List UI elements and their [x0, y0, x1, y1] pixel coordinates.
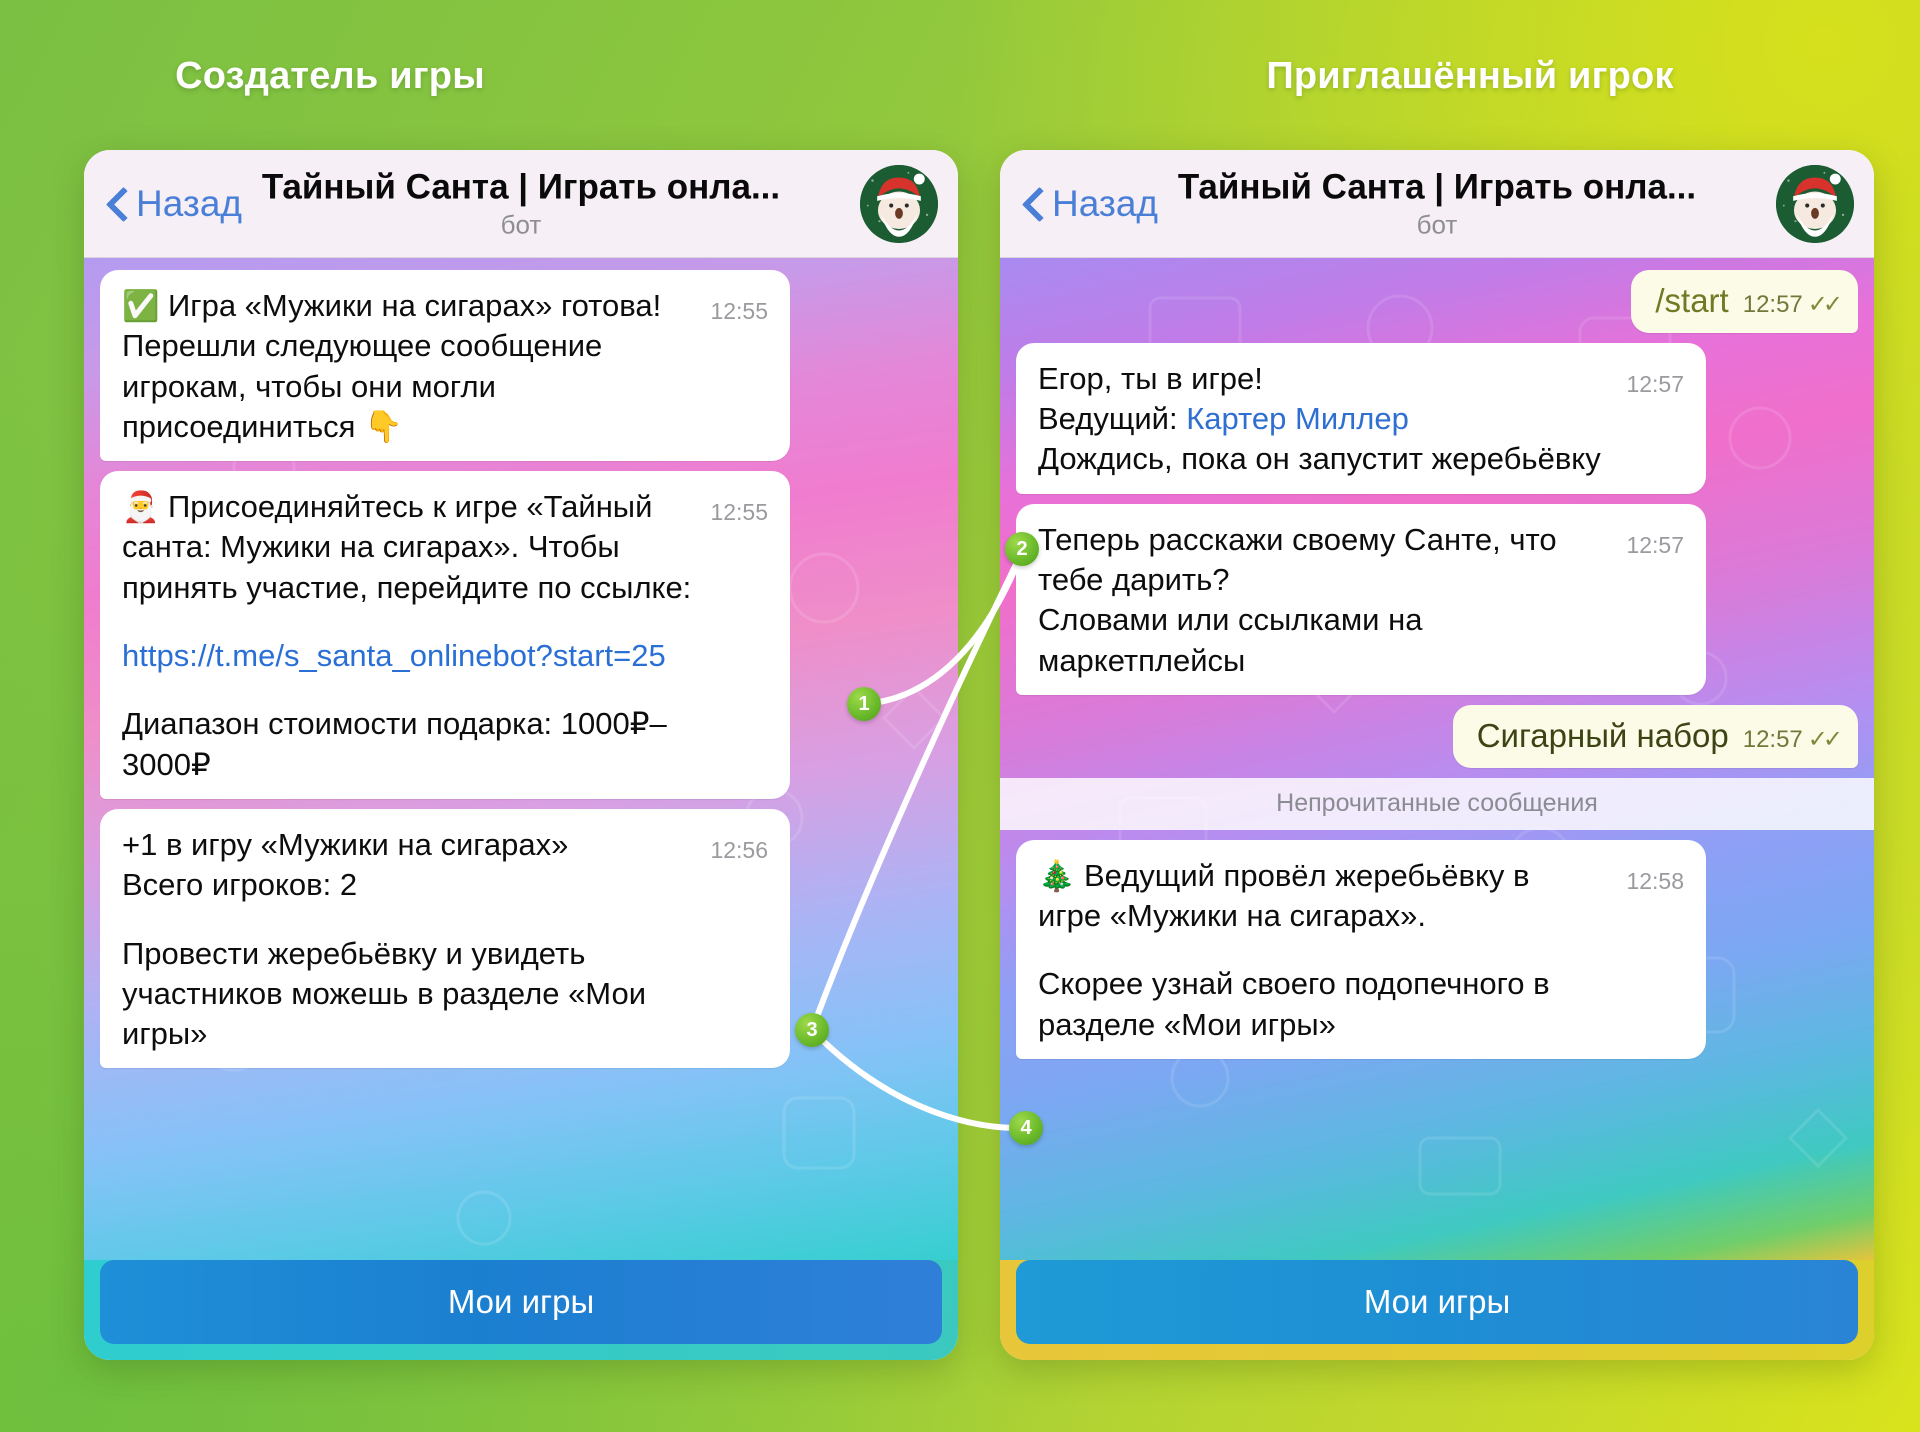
message-bubble[interactable]: 12:56 +1 в игру «Мужики на сигарах» Всег…: [100, 809, 790, 1068]
message-line: Дождись, пока он запустит жеребьёвку: [1038, 439, 1684, 479]
spacer: [122, 906, 768, 934]
my-games-button[interactable]: Мои игры: [100, 1260, 942, 1344]
chat-title: Тайный Санта | Играть онла...: [1157, 167, 1717, 207]
christmas-tree-emoji: 🎄: [1038, 860, 1075, 893]
chat-title: Тайный Санта | Играть онла...: [241, 167, 801, 207]
santa-avatar-icon[interactable]: [860, 165, 938, 243]
message-list: 12:55 ✅ Игра «Мужики на сигарах» готова!…: [84, 258, 958, 1260]
message-time: 12:56: [710, 839, 768, 862]
title-game-creator: Создатель игры: [0, 55, 960, 98]
chevron-left-icon: [1022, 187, 1042, 221]
santa-avatar-icon[interactable]: [1776, 165, 1854, 243]
message-bubble-outgoing[interactable]: /start 12:57✓✓: [1631, 270, 1858, 333]
message-bubble[interactable]: 12:57 Егор, ты в игре! Ведущий: Картер М…: [1016, 343, 1706, 494]
message-line: игры»: [122, 1014, 768, 1054]
message-time: 12:57: [1626, 373, 1684, 396]
spacer: [122, 608, 768, 636]
message-line: разделе «Мои игры»: [1038, 1005, 1684, 1045]
chat-area: /start 12:57✓✓ 12:57 Егор, ты в игре! Ве…: [1000, 258, 1874, 1260]
chat-area: 12:55 ✅ Игра «Мужики на сигарах» готова!…: [84, 258, 958, 1260]
message-line: присоединиться 👇: [122, 407, 768, 447]
message-bubble[interactable]: 12:58 🎄 Ведущий провёл жеребьёвку в игре…: [1016, 840, 1706, 1059]
chat-subtitle: бот: [1157, 209, 1717, 240]
back-button-label: Назад: [136, 183, 242, 225]
phone-panel-invited: Назад Тайный Санта | Играть онла... бот: [1000, 150, 1874, 1360]
callout-badge-2[interactable]: 2: [1005, 532, 1039, 566]
title-invited-player: Приглашённый игрок: [960, 55, 1920, 98]
message-line: Ведущий провёл жеребьёвку в: [1084, 858, 1529, 893]
message-time: 12:58: [1626, 870, 1684, 893]
spacer: [1038, 936, 1684, 964]
host-name-link[interactable]: Картер Миллер: [1186, 401, 1409, 436]
invite-link[interactable]: https://t.me/s_santa_onlinebot?start=25: [122, 636, 768, 676]
message-label: Ведущий:: [1038, 401, 1186, 436]
unread-messages-divider: Непрочитанные сообщения: [1000, 778, 1874, 830]
back-button[interactable]: Назад: [106, 183, 242, 225]
message-line: Всего игроков: 2: [122, 865, 768, 905]
message-line: Теперь расскажи своему Санте, что: [1038, 520, 1684, 560]
back-button[interactable]: Назад: [1022, 183, 1158, 225]
callout-badge-3[interactable]: 3: [795, 1013, 829, 1047]
back-button-label: Назад: [1052, 183, 1158, 225]
message-line: Провести жеребьёвку и увидеть: [122, 934, 768, 974]
message-line: Словами или ссылками на: [1038, 600, 1684, 640]
callout-badge-1[interactable]: 1: [847, 687, 881, 721]
message-time: 12:55: [710, 501, 768, 524]
message-line: тебе дарить?: [1038, 560, 1684, 600]
santa-claus-emoji: 🎅: [122, 491, 159, 524]
message-line: маркетплейсы: [1038, 641, 1684, 681]
message-list: /start 12:57✓✓ 12:57 Егор, ты в игре! Ве…: [1000, 258, 1874, 1260]
chat-subtitle: бот: [241, 209, 801, 240]
message-bubble-outgoing[interactable]: Сигарный набор 12:57✓✓: [1453, 705, 1858, 768]
message-line: Скорее узнай своего подопечного в: [1038, 964, 1684, 1004]
message-text: Сигарный набор: [1477, 715, 1729, 758]
keyboard-area: Мои игры: [1000, 1260, 1874, 1360]
message-line: Егор, ты в игре!: [1038, 359, 1684, 399]
message-time: 12:57✓✓: [1743, 289, 1838, 320]
message-line: +1 в игру «Мужики на сигарах»: [122, 825, 768, 865]
message-line: игрокам, чтобы они могли: [122, 367, 768, 407]
chat-header: Назад Тайный Санта | Играть онла... бот: [84, 150, 958, 258]
message-text: /start: [1655, 280, 1728, 323]
chat-header: Назад Тайный Санта | Играть онла... бот: [1000, 150, 1874, 258]
chevron-left-icon: [106, 187, 126, 221]
message-line: Перешли следующее сообщение: [122, 326, 768, 366]
message-line: санта: Мужики на сигарах». Чтобы: [122, 527, 768, 567]
message-line: участников можешь в разделе «Мои: [122, 974, 768, 1014]
check-mark-button-emoji: ✅: [122, 290, 159, 323]
spacer: [122, 676, 768, 704]
message-line: Присоединяйтесь к игре «Тайный: [168, 489, 652, 524]
read-double-check-icon: ✓✓: [1808, 291, 1838, 318]
message-line: принять участие, перейдите по ссылке:: [122, 568, 768, 608]
message-line: игре «Мужики на сигарах».: [1038, 896, 1684, 936]
my-games-button[interactable]: Мои игры: [1016, 1260, 1858, 1344]
message-time: 12:57: [1626, 534, 1684, 557]
read-double-check-icon: ✓✓: [1808, 726, 1838, 753]
panel-titles: Создатель игры Приглашённый игрок: [0, 55, 1920, 98]
message-line: Игра «Мужики на сигарах» готова!: [168, 288, 661, 323]
chat-title-block[interactable]: Тайный Санта | Играть онла... бот: [1157, 167, 1717, 240]
message-line: Диапазон стоимости подарка: 1000₽–: [122, 704, 768, 744]
message-time: 12:55: [710, 300, 768, 323]
message-bubble[interactable]: 12:55 🎅 Присоединяйтесь к игре «Тайный с…: [100, 471, 790, 799]
message-time: 12:57✓✓: [1743, 724, 1838, 755]
chat-title-block[interactable]: Тайный Санта | Играть онла... бот: [241, 167, 801, 240]
callout-badge-4[interactable]: 4: [1009, 1111, 1043, 1145]
keyboard-area: Мои игры: [84, 1260, 958, 1360]
phone-panel-creator: Назад Тайный Санта | Играть онла... бот: [84, 150, 958, 1360]
message-bubble[interactable]: 12:55 ✅ Игра «Мужики на сигарах» готова!…: [100, 270, 790, 461]
message-bubble[interactable]: 12:57 Теперь расскажи своему Санте, что …: [1016, 504, 1706, 695]
message-line: 3000₽: [122, 745, 768, 785]
